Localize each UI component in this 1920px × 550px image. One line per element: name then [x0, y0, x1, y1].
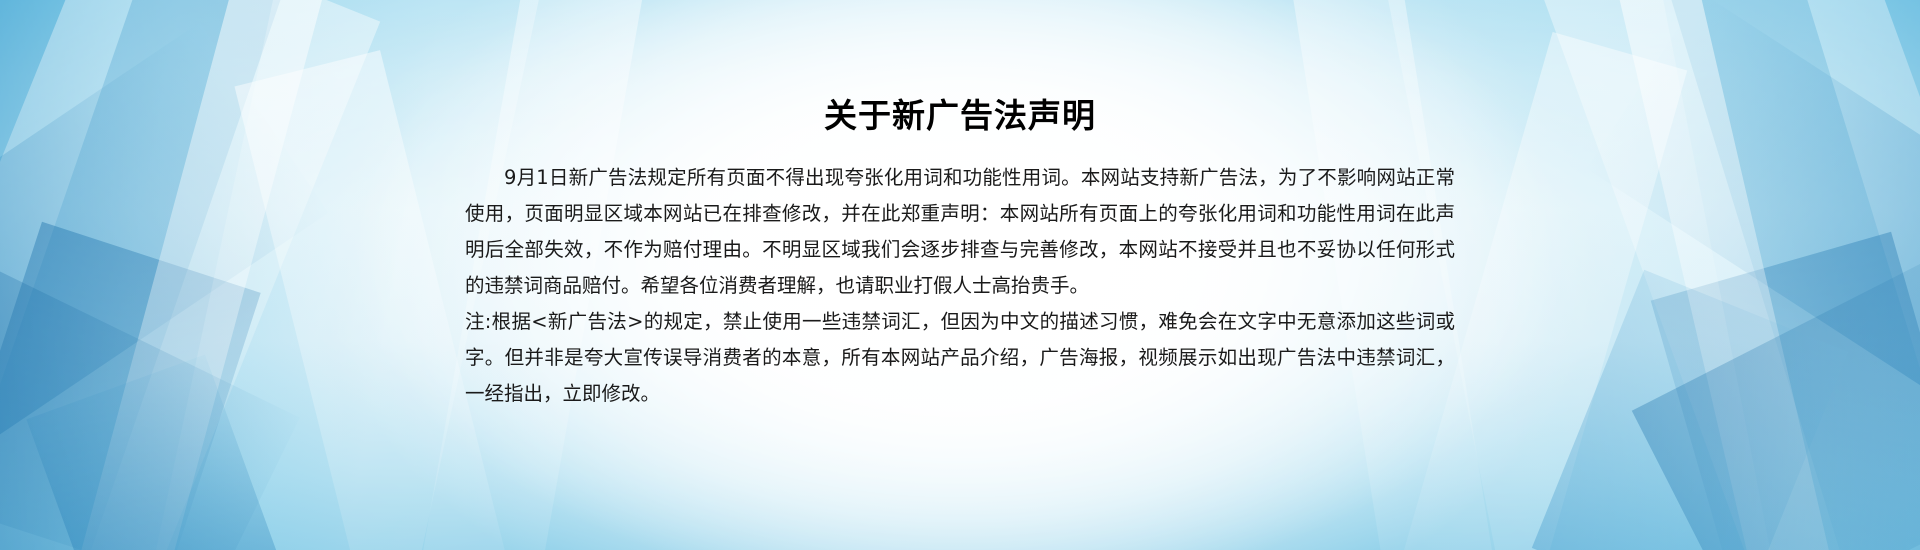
statement-content: 关于新广告法声明 9月1日新广告法规定所有页面不得出现夸张化用词和功能性用词。本… — [465, 0, 1455, 550]
statement-paragraph-note: 注:根据<新广告法>的规定，禁止使用一些违禁词汇，但因为中文的描述习惯，难免会在… — [465, 304, 1455, 412]
statement-paragraph-main: 9月1日新广告法规定所有页面不得出现夸张化用词和功能性用词。本网站支持新广告法，… — [465, 160, 1455, 304]
page-title: 关于新广告法声明 — [465, 0, 1455, 136]
announcement-banner: 关于新广告法声明 9月1日新广告法规定所有页面不得出现夸张化用词和功能性用词。本… — [0, 0, 1920, 550]
